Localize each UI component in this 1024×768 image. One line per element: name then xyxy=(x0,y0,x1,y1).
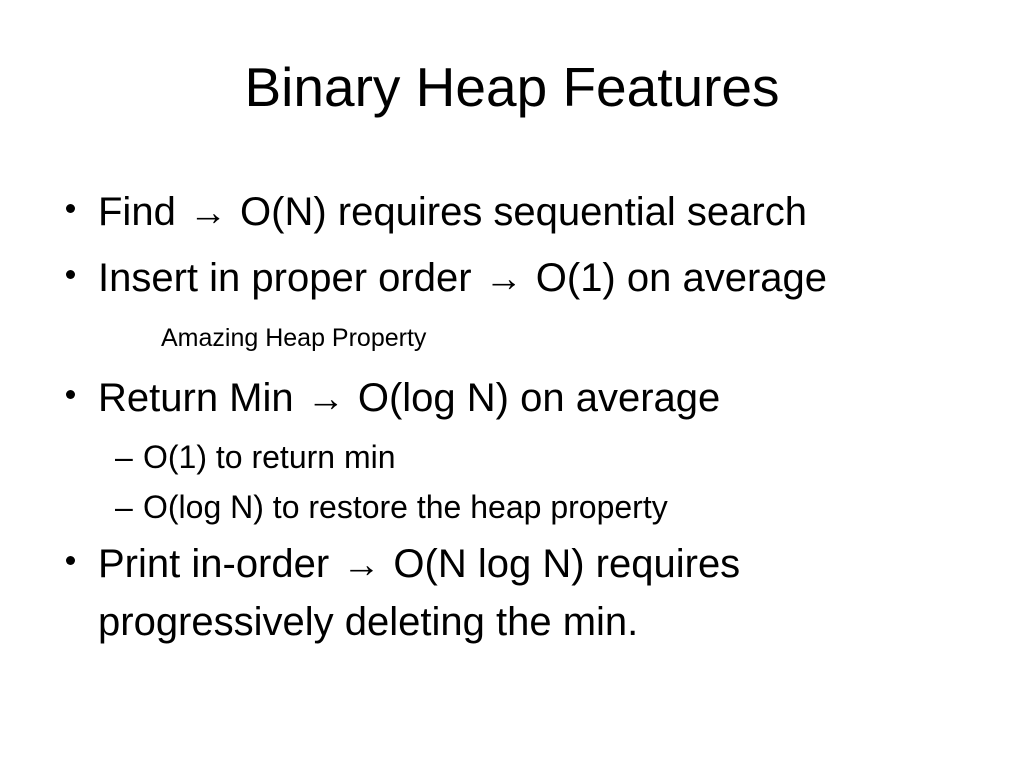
text-segment: O(log N) on average xyxy=(347,376,721,420)
page-title: Binary Heap Features xyxy=(0,55,1024,119)
bullet-marker-icon xyxy=(60,370,98,427)
dash-marker-icon: – xyxy=(115,482,143,532)
right-arrow-icon: → xyxy=(340,544,382,586)
bullet-marker-icon xyxy=(60,250,98,307)
text-segment: O(N) requires sequential search xyxy=(229,190,807,234)
sub-list-item: – O(1) to return min xyxy=(60,432,960,482)
list-item: Print in-order → O(N log N) requires pro… xyxy=(60,536,960,651)
right-arrow-icon: → xyxy=(483,258,525,300)
list-item: Find → O(N) requires sequential search xyxy=(60,184,960,242)
sub-list-item-label: O(1) to return min xyxy=(143,432,960,482)
list-item-label: Insert in proper order → O(1) on average xyxy=(98,250,960,308)
sub-list-item-label: O(log N) to restore the heap property xyxy=(143,482,960,532)
text-segment: Insert in proper order xyxy=(98,256,483,300)
text-segment: Print in-order xyxy=(98,542,340,586)
right-arrow-icon: → xyxy=(187,192,229,234)
text-segment: Return Min xyxy=(98,376,305,420)
list-item-label: Return Min → O(log N) on average xyxy=(98,370,960,428)
list-item: Insert in proper order → O(1) on average xyxy=(60,250,960,308)
bullet-marker-icon xyxy=(60,184,98,241)
list-item-label: Find → O(N) requires sequential search xyxy=(98,184,960,242)
right-arrow-icon: → xyxy=(305,378,347,420)
sub-list-item: – O(log N) to restore the heap property xyxy=(60,482,960,532)
list-item-label: Print in-order → O(N log N) requires pro… xyxy=(98,536,960,651)
text-segment: O(1) on average xyxy=(525,256,827,300)
slide-body: Find → O(N) requires sequential search I… xyxy=(60,184,960,651)
list-item: Return Min → O(log N) on average xyxy=(60,370,960,428)
slide-canvas: Binary Heap Features Find → O(N) require… xyxy=(0,0,1024,768)
bullet-marker-icon xyxy=(60,536,98,593)
text-segment: Find xyxy=(98,190,187,234)
sub-note-label: Amazing Heap Property xyxy=(60,314,960,362)
dash-marker-icon: – xyxy=(115,432,143,482)
